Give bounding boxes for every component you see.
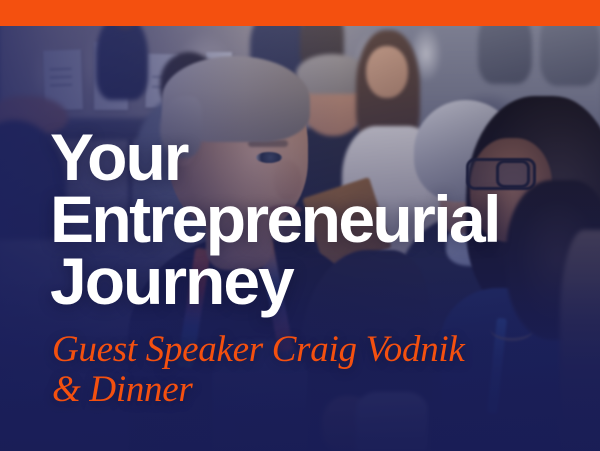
poster-text-content: Your Entrepreneurial Journey Guest Speak… (0, 0, 600, 451)
top-orange-accent-bar (0, 0, 600, 26)
headline-line-3: Journey (50, 250, 499, 312)
headline-line-1: Your (50, 126, 499, 188)
page-title: Your Entrepreneurial Journey (50, 126, 499, 312)
poster-subtitle: Guest Speaker Craig Vodnik & Dinner (52, 330, 465, 410)
subtitle-line-1: Guest Speaker Craig Vodnik (52, 330, 465, 370)
event-promo-poster: Your Entrepreneurial Journey Guest Speak… (0, 0, 600, 451)
subtitle-line-2: & Dinner (52, 370, 465, 410)
headline-line-2: Entrepreneurial (50, 188, 499, 250)
